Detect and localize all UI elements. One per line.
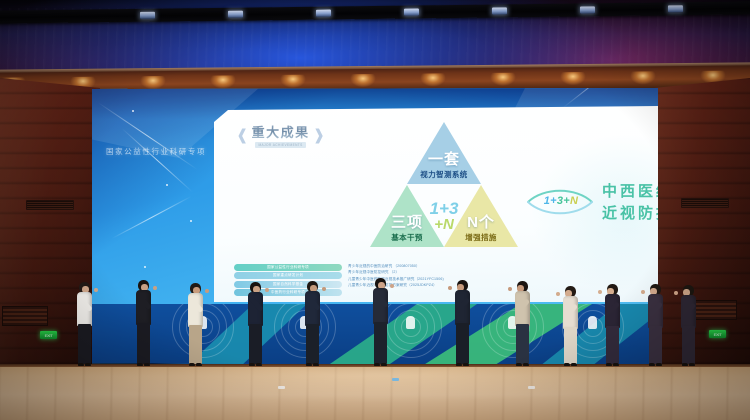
person-shoe — [374, 363, 380, 366]
person-legs — [456, 323, 469, 364]
person-shoe — [78, 363, 84, 366]
person-11 — [643, 284, 669, 368]
person-shoe — [306, 363, 312, 366]
exit-sign-label-right: EXIT — [714, 332, 722, 337]
person-5 — [300, 281, 326, 368]
person-hand — [94, 288, 98, 292]
triangle-right-text: 增强措施 — [436, 232, 526, 243]
person-10 — [600, 284, 626, 368]
floor-marker — [392, 378, 399, 381]
led-dot-3 — [144, 266, 146, 268]
person-shoe — [456, 363, 462, 366]
truss-spotlight — [228, 11, 243, 18]
person-shoe — [571, 363, 577, 366]
led-dot-2 — [166, 184, 168, 186]
wall-speaker-right — [681, 198, 729, 208]
exit-sign-right: EXIT — [709, 330, 726, 338]
brand-text-block: 中西医结合 近视防控方案 — [602, 180, 658, 223]
person-shoe — [381, 363, 387, 366]
person-hand — [641, 290, 645, 294]
person-hand — [322, 287, 326, 291]
truss-spotlight — [668, 5, 683, 12]
truss-spotlight — [492, 7, 507, 14]
person-hand — [205, 289, 209, 293]
person-hand — [448, 286, 452, 290]
project-pill: 国家公益性行业科研专项 — [234, 264, 342, 271]
person-shoe — [189, 363, 195, 366]
eye-logo-text: 1+3+N — [533, 195, 589, 207]
person-hand — [508, 287, 512, 291]
hand-raise-icon — [406, 316, 415, 329]
person-shoe — [656, 363, 662, 366]
person-8 — [510, 281, 536, 368]
person-hand — [265, 288, 269, 292]
person-hand — [390, 284, 394, 288]
badge-title: 重大成果 — [252, 122, 310, 141]
person-legs — [137, 323, 150, 364]
person-shoe — [523, 363, 529, 366]
person-shoe — [144, 363, 150, 366]
brand-line-1: 中西医结合 — [602, 180, 658, 201]
floor-marker — [528, 386, 535, 389]
person-2 — [131, 280, 157, 368]
person-shoe — [249, 363, 255, 366]
brand-line-2: 近视防控方案 — [602, 202, 658, 223]
triangle-center-formula: 1+3 +N — [412, 200, 476, 233]
person-legs — [249, 324, 262, 364]
person-hand — [153, 286, 157, 290]
person-legs — [649, 326, 662, 364]
person-6 — [368, 278, 394, 368]
person-shoe — [649, 363, 655, 366]
person-legs — [564, 327, 577, 364]
person-legs — [374, 322, 387, 364]
person-shoe — [606, 363, 612, 366]
person-9 — [558, 286, 584, 368]
person-legs — [682, 326, 695, 364]
person-shoe — [682, 363, 688, 366]
person-shoe — [313, 363, 319, 366]
person-7 — [450, 280, 476, 368]
badge-content: 重大成果 MAJOR ACHIEVEMENTS — [252, 122, 310, 148]
person-shoe — [463, 363, 469, 366]
laurel-left-icon: ❰ — [236, 128, 249, 143]
stage-floor — [0, 364, 750, 420]
truss-spotlight — [580, 6, 595, 13]
person-shoe — [137, 363, 143, 366]
formula-line-1: 1+3 — [412, 200, 476, 217]
person-shoe — [516, 363, 522, 366]
person-shoe — [564, 363, 570, 366]
project-info-strip: 国家公益性行业科研专项 国家重点研发计划 国家自然科学基金 中医药行业科研专项 … — [234, 264, 648, 297]
content-card: ❰ 重大成果 MAJOR ACHIEVEMENTS ❱ 一套 视力智测系统 三项 — [214, 106, 658, 302]
person-shoe — [613, 363, 619, 366]
person-shoe — [85, 363, 91, 366]
person-legs — [516, 324, 529, 364]
person-hand — [556, 292, 560, 296]
project-row: 青少年近视的中医防治研究 （200807050） — [348, 264, 648, 269]
triangle-top-label: 一套 视力智测系统 — [399, 148, 489, 180]
person-shoe — [689, 363, 695, 366]
person-4 — [243, 282, 269, 368]
badge-subtitle: MAJOR ACHIEVEMENTS — [255, 142, 305, 148]
person-legs — [78, 324, 91, 364]
person-shoe — [256, 363, 262, 366]
person-3 — [183, 283, 209, 368]
floor-marker — [278, 386, 285, 389]
eye-logo-icon: 1+3+N — [524, 185, 596, 219]
project-row: 青少年近视中医防控研究 （2） — [348, 270, 648, 275]
person-legs — [306, 324, 319, 364]
laurel-right-icon: ❱ — [313, 128, 326, 143]
formula-line-2: +N — [412, 217, 476, 232]
truss-spotlight — [404, 8, 419, 15]
project-pill: 国家重点研发计划 — [234, 272, 342, 279]
truss-spotlight — [140, 12, 155, 19]
wall-vent-left — [2, 306, 48, 326]
truss-spotlight — [316, 10, 331, 17]
person-hand — [598, 290, 602, 294]
exit-sign-label: EXIT — [45, 333, 53, 338]
achievement-badge: ❰ 重大成果 MAJOR ACHIEVEMENTS ❱ — [236, 122, 325, 148]
brand-block: 1+3+N 中西医结合 近视防控方案 — [524, 180, 658, 223]
triangle-top-number: 一套 — [399, 148, 489, 169]
person-shoe — [196, 363, 202, 366]
led-dot-4 — [190, 220, 192, 222]
hand-raise-icon — [588, 316, 597, 329]
person-legs — [606, 326, 619, 364]
person-12 — [676, 285, 702, 368]
led-dot-1 — [132, 110, 134, 112]
wall-speaker-left — [26, 200, 74, 210]
person-1 — [72, 282, 98, 368]
person-hand — [674, 291, 678, 295]
triangle-top-text: 视力智测系统 — [399, 169, 489, 180]
person-legs — [189, 325, 202, 364]
exit-sign-left: EXIT — [40, 331, 57, 339]
stage-scene: EXIT EXIT 国家公益性行业科研专项 ❰ — [0, 0, 750, 420]
